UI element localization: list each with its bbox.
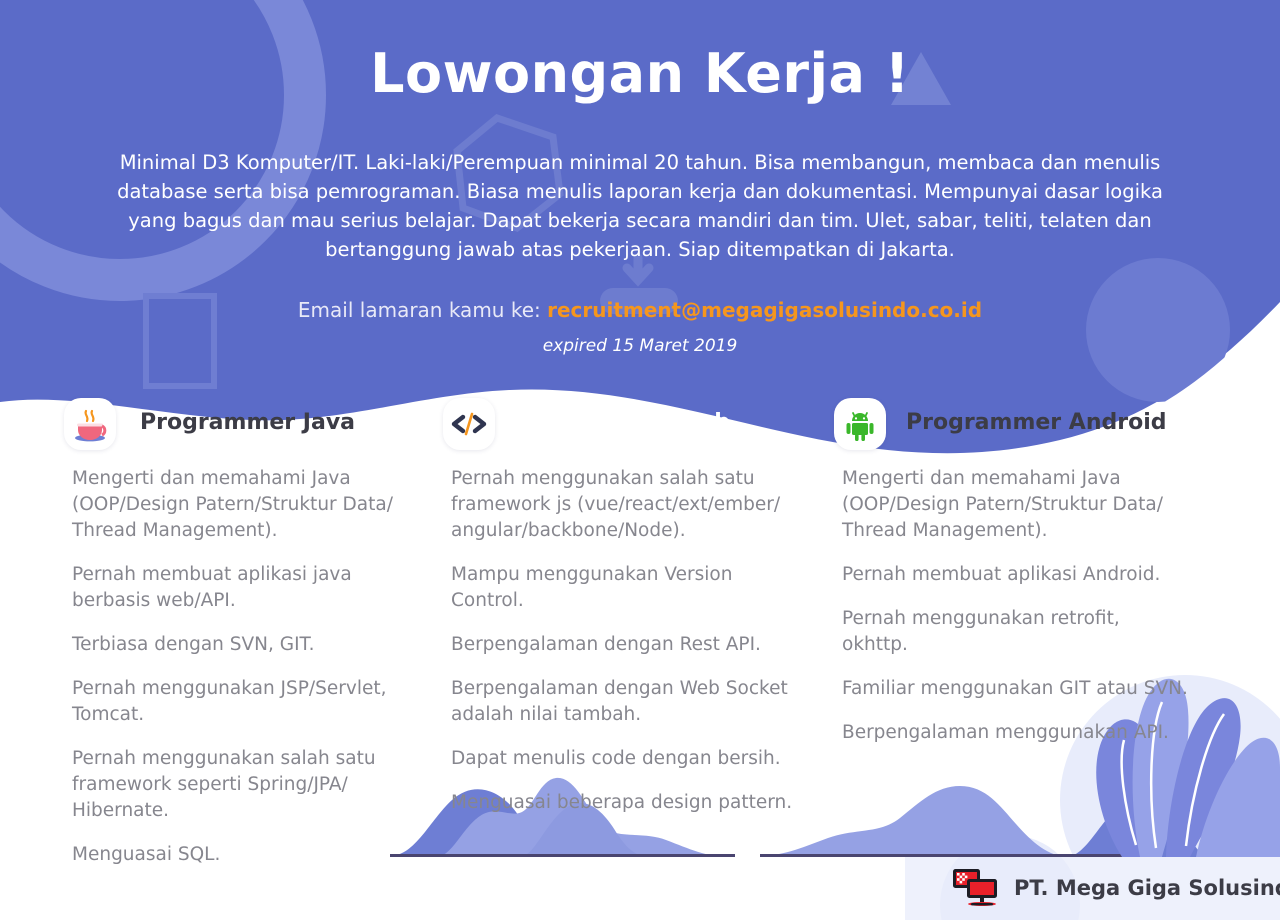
role-column-web: Programmer Web Pernah menggunakan salah … <box>443 398 793 454</box>
list-item: Pernah menggunakan JSP/Servlet, Tomcat. <box>72 676 404 728</box>
list-item: Mengerti dan memahami Java (OOP/Design P… <box>842 466 1190 544</box>
requirements-list-android: Mengerti dan memahami Java (OOP/Design P… <box>842 466 1190 764</box>
list-item: Menguasai beberapa design pattern. <box>451 790 796 816</box>
email-prefix-label: Email lamaran kamu ke: <box>298 298 547 322</box>
requirements-text: Minimal D3 Komputer/IT. Laki-laki/Peremp… <box>90 148 1190 264</box>
job-poster: Lowongan Kerja ! Minimal D3 Komputer/IT.… <box>0 0 1280 920</box>
role-header-java: Programmer Java <box>64 398 404 454</box>
baseline-right <box>760 854 1150 857</box>
list-item: Pernah menggunakan salah satu framework … <box>72 746 404 824</box>
role-column-android: Programmer Android Mengerti dan memahami… <box>834 398 1184 454</box>
coffee-cup-icon <box>64 398 116 450</box>
list-item: Pernah menggunakan salah satu framework … <box>451 466 796 544</box>
list-item: Mengerti dan memahami Java (OOP/Design P… <box>72 466 404 544</box>
email-address[interactable]: recruitment@megagigasolusindo.co.id <box>547 298 982 322</box>
list-item: Familiar menggunakan GIT atau SVN. <box>842 676 1190 702</box>
page-title: Lowongan Kerja ! <box>0 44 1280 103</box>
role-header-android: Programmer Android <box>834 398 1184 454</box>
list-item: Terbiasa dengan SVN, GIT. <box>72 632 404 658</box>
requirements-list-java: Mengerti dan memahami Java (OOP/Design P… <box>72 466 404 886</box>
list-item: Mampu menggunakan Version Control. <box>451 562 796 614</box>
code-brackets-icon <box>443 398 495 450</box>
expiry-date: expired 15 Maret 2019 <box>0 336 1280 356</box>
list-item: Berpengalaman dengan Web Socket adalah n… <box>451 676 796 728</box>
role-header-web: Programmer Web <box>443 398 793 454</box>
list-item: Pernah membuat aplikasi Android. <box>842 562 1190 588</box>
email-line: Email lamaran kamu ke: recruitment@megag… <box>0 297 1280 324</box>
circle-decoration-right <box>1086 258 1230 402</box>
list-item: Berpengalaman menggunakan API. <box>842 720 1190 746</box>
list-item: Pernah menggunakan retrofit, okhttp. <box>842 606 1190 658</box>
company-name: PT. Mega Giga Solusindo <box>1014 876 1280 900</box>
monitor-screens-logo-icon <box>952 868 1002 908</box>
android-robot-icon <box>834 398 886 450</box>
list-item: Pernah membuat aplikasi java berbasis we… <box>72 562 404 614</box>
list-item: Berpengalaman dengan Rest API. <box>451 632 796 658</box>
requirements-list-web: Pernah menggunakan salah satu framework … <box>451 466 796 834</box>
list-item: Menguasai SQL. <box>72 842 404 868</box>
role-column-java: Programmer Java Mengerti dan memahami Ja… <box>64 398 404 454</box>
role-title-web: Programmer Web <box>513 410 730 435</box>
hill-light-right <box>760 786 1070 857</box>
list-item: Dapat menulis code dengan bersih. <box>451 746 796 772</box>
baseline-left <box>390 854 735 857</box>
role-title-android: Programmer Android <box>906 410 1167 435</box>
role-title-java: Programmer Java <box>140 410 355 435</box>
